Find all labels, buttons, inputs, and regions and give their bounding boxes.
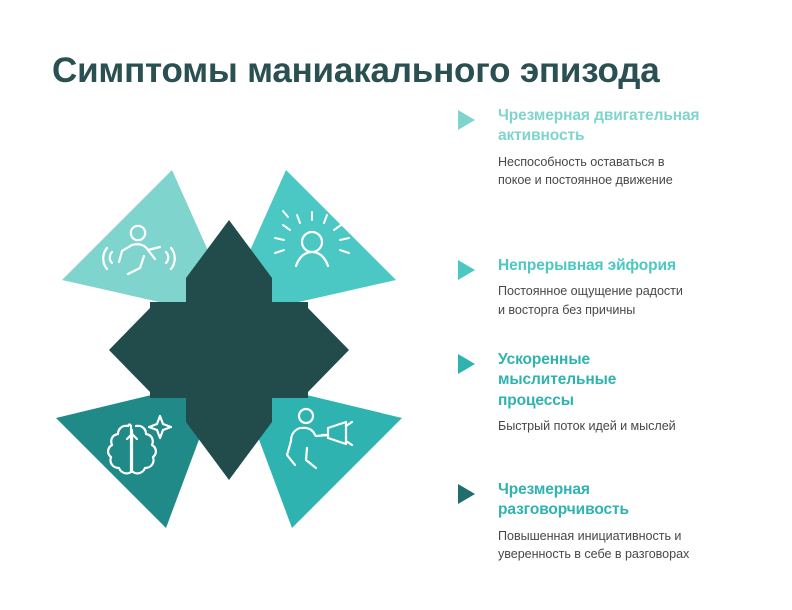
list-item[interactable]: Непрерывная эйфория Постоянное ощущение …: [458, 256, 758, 319]
list-item-body: Чрезмерная двигательная активность Неспо…: [498, 106, 758, 189]
list-item-heading: Чрезмерная двигательная активность: [498, 106, 758, 147]
description-line: Неспособность оставаться в: [498, 153, 758, 171]
list-item-body: Непрерывная эйфория Постоянное ощущение …: [498, 256, 758, 319]
list-item-body: Чрезмерная разговорчивость Повышенная ин…: [498, 480, 758, 563]
description-line: Постоянное ощущение радости: [498, 282, 758, 300]
description-line: и восторга без причины: [498, 301, 758, 319]
list-item-description: Неспособность оставаться в покое и посто…: [498, 153, 758, 190]
arrow-marker-icon: [458, 260, 475, 280]
page-title: Симптомы маниакального эпизода: [52, 51, 772, 90]
list-item-heading: Чрезмерная разговорчивость: [498, 480, 678, 521]
symptom-list: Чрезмерная двигательная активность Неспо…: [458, 106, 758, 601]
list-item-description: Повышенная инициативность и уверенность …: [498, 527, 758, 564]
list-item-heading: Ускоренные мыслительные процессы: [498, 350, 668, 411]
list-item[interactable]: Ускоренные мыслительные процессы Быстрый…: [458, 350, 758, 436]
list-item-body: Ускоренные мыслительные процессы Быстрый…: [498, 350, 758, 436]
list-item[interactable]: Чрезмерная двигательная активность Неспо…: [458, 106, 758, 189]
list-item[interactable]: Чрезмерная разговорчивость Повышенная ин…: [458, 480, 758, 563]
list-item-heading: Непрерывная эйфория: [498, 256, 758, 276]
arrow-marker-icon: [458, 484, 475, 504]
description-line: покое и постоянное движение: [498, 171, 758, 189]
symptom-diagram: [44, 160, 414, 540]
infographic-page: Симптомы маниакального эпизода: [0, 0, 792, 610]
arrow-marker-icon: [458, 110, 475, 130]
description-line: уверенность в себе в разговорах: [498, 545, 758, 563]
list-item-description: Быстрый поток идей и мыслей: [498, 417, 758, 435]
arrow-marker-icon: [458, 354, 475, 374]
list-item-description: Постоянное ощущение радости и восторга б…: [498, 282, 758, 319]
description-line: Повышенная инициативность и: [498, 527, 758, 545]
description-line: Быстрый поток идей и мыслей: [498, 417, 758, 435]
